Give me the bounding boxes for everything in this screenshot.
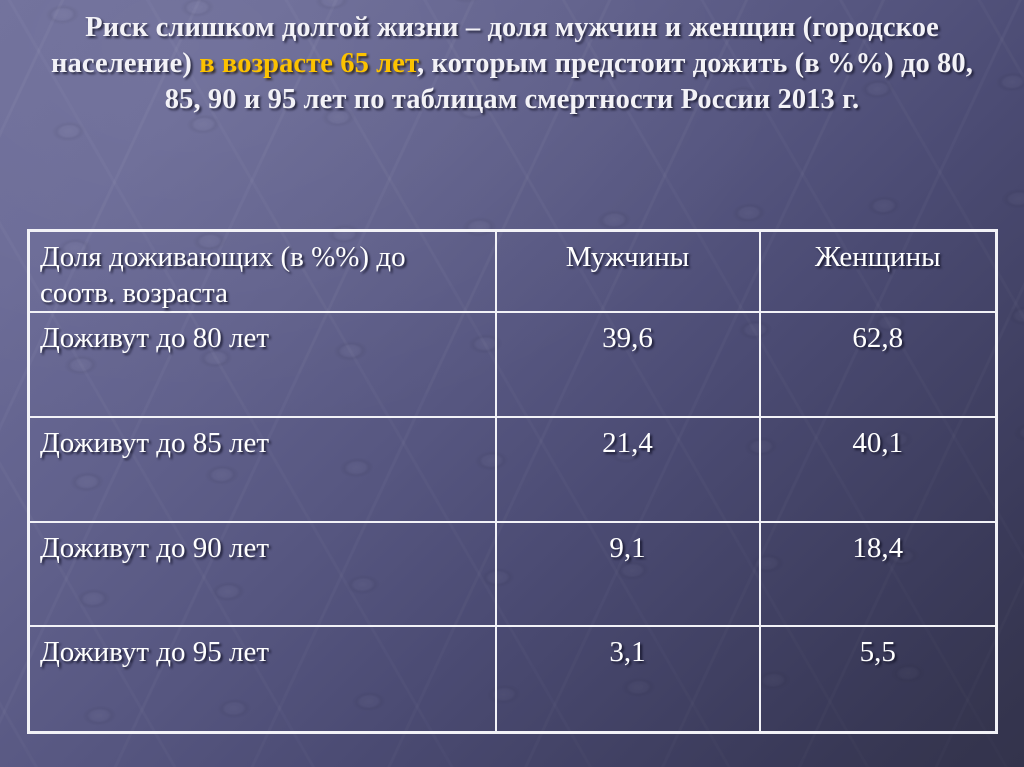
survival-table: Доля доживающих (в %%) до соотв. возраст… xyxy=(27,229,998,734)
column-header-category: Доля доживающих (в %%) до соотв. возраст… xyxy=(29,231,496,313)
row-label: Доживут до 95 лет xyxy=(29,626,496,732)
row-label: Доживут до 90 лет xyxy=(29,522,496,627)
column-header-women: Женщины xyxy=(760,231,997,313)
row-value-men: 39,6 xyxy=(496,312,760,417)
survival-table-container: Доля доживающих (в %%) до соотв. возраст… xyxy=(27,229,995,734)
row-value-women: 62,8 xyxy=(760,312,997,417)
slide-canvas: Риск слишком долгой жизни – доля мужчин … xyxy=(0,0,1024,767)
row-value-men: 3,1 xyxy=(496,626,760,732)
row-value-women: 40,1 xyxy=(760,417,997,522)
row-value-men: 9,1 xyxy=(496,522,760,627)
table-row: Доживут до 95 лет 3,1 5,5 xyxy=(29,626,997,732)
row-label: Доживут до 80 лет xyxy=(29,312,496,417)
table-row: Доживут до 90 лет 9,1 18,4 xyxy=(29,522,997,627)
row-value-women: 18,4 xyxy=(760,522,997,627)
table-header-row: Доля доживающих (в %%) до соотв. возраст… xyxy=(29,231,997,313)
row-label: Доживут до 85 лет xyxy=(29,417,496,522)
table-row: Доживут до 85 лет 21,4 40,1 xyxy=(29,417,997,522)
row-value-men: 21,4 xyxy=(496,417,760,522)
slide-title: Риск слишком долгой жизни – доля мужчин … xyxy=(46,10,978,117)
table-row: Доживут до 80 лет 39,6 62,8 xyxy=(29,312,997,417)
column-header-men: Мужчины xyxy=(496,231,760,313)
row-value-women: 5,5 xyxy=(760,626,997,732)
title-highlight: в возрасте 65 лет xyxy=(199,48,417,79)
